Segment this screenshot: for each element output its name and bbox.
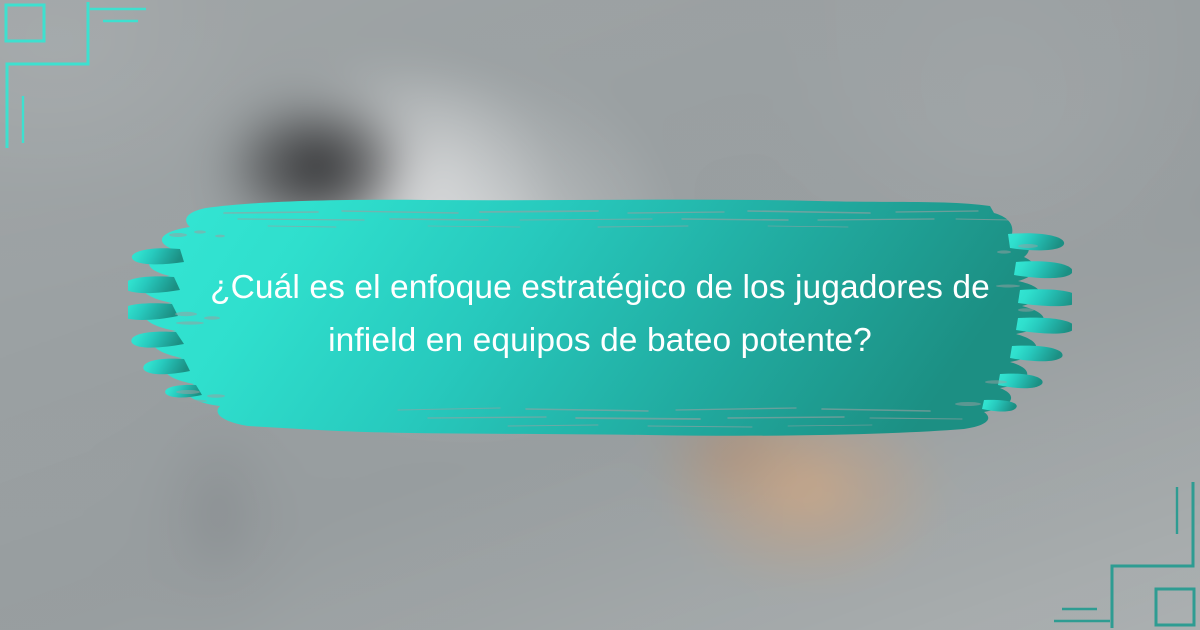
page-title: ¿Cuál es el enfoque estratégico de los j… [205,262,995,368]
question-card: ¿Cuál es el enfoque estratégico de los j… [0,0,1200,630]
headline-banner: ¿Cuál es el enfoque estratégico de los j… [128,186,1072,444]
headline-container: ¿Cuál es el enfoque estratégico de los j… [128,186,1072,444]
